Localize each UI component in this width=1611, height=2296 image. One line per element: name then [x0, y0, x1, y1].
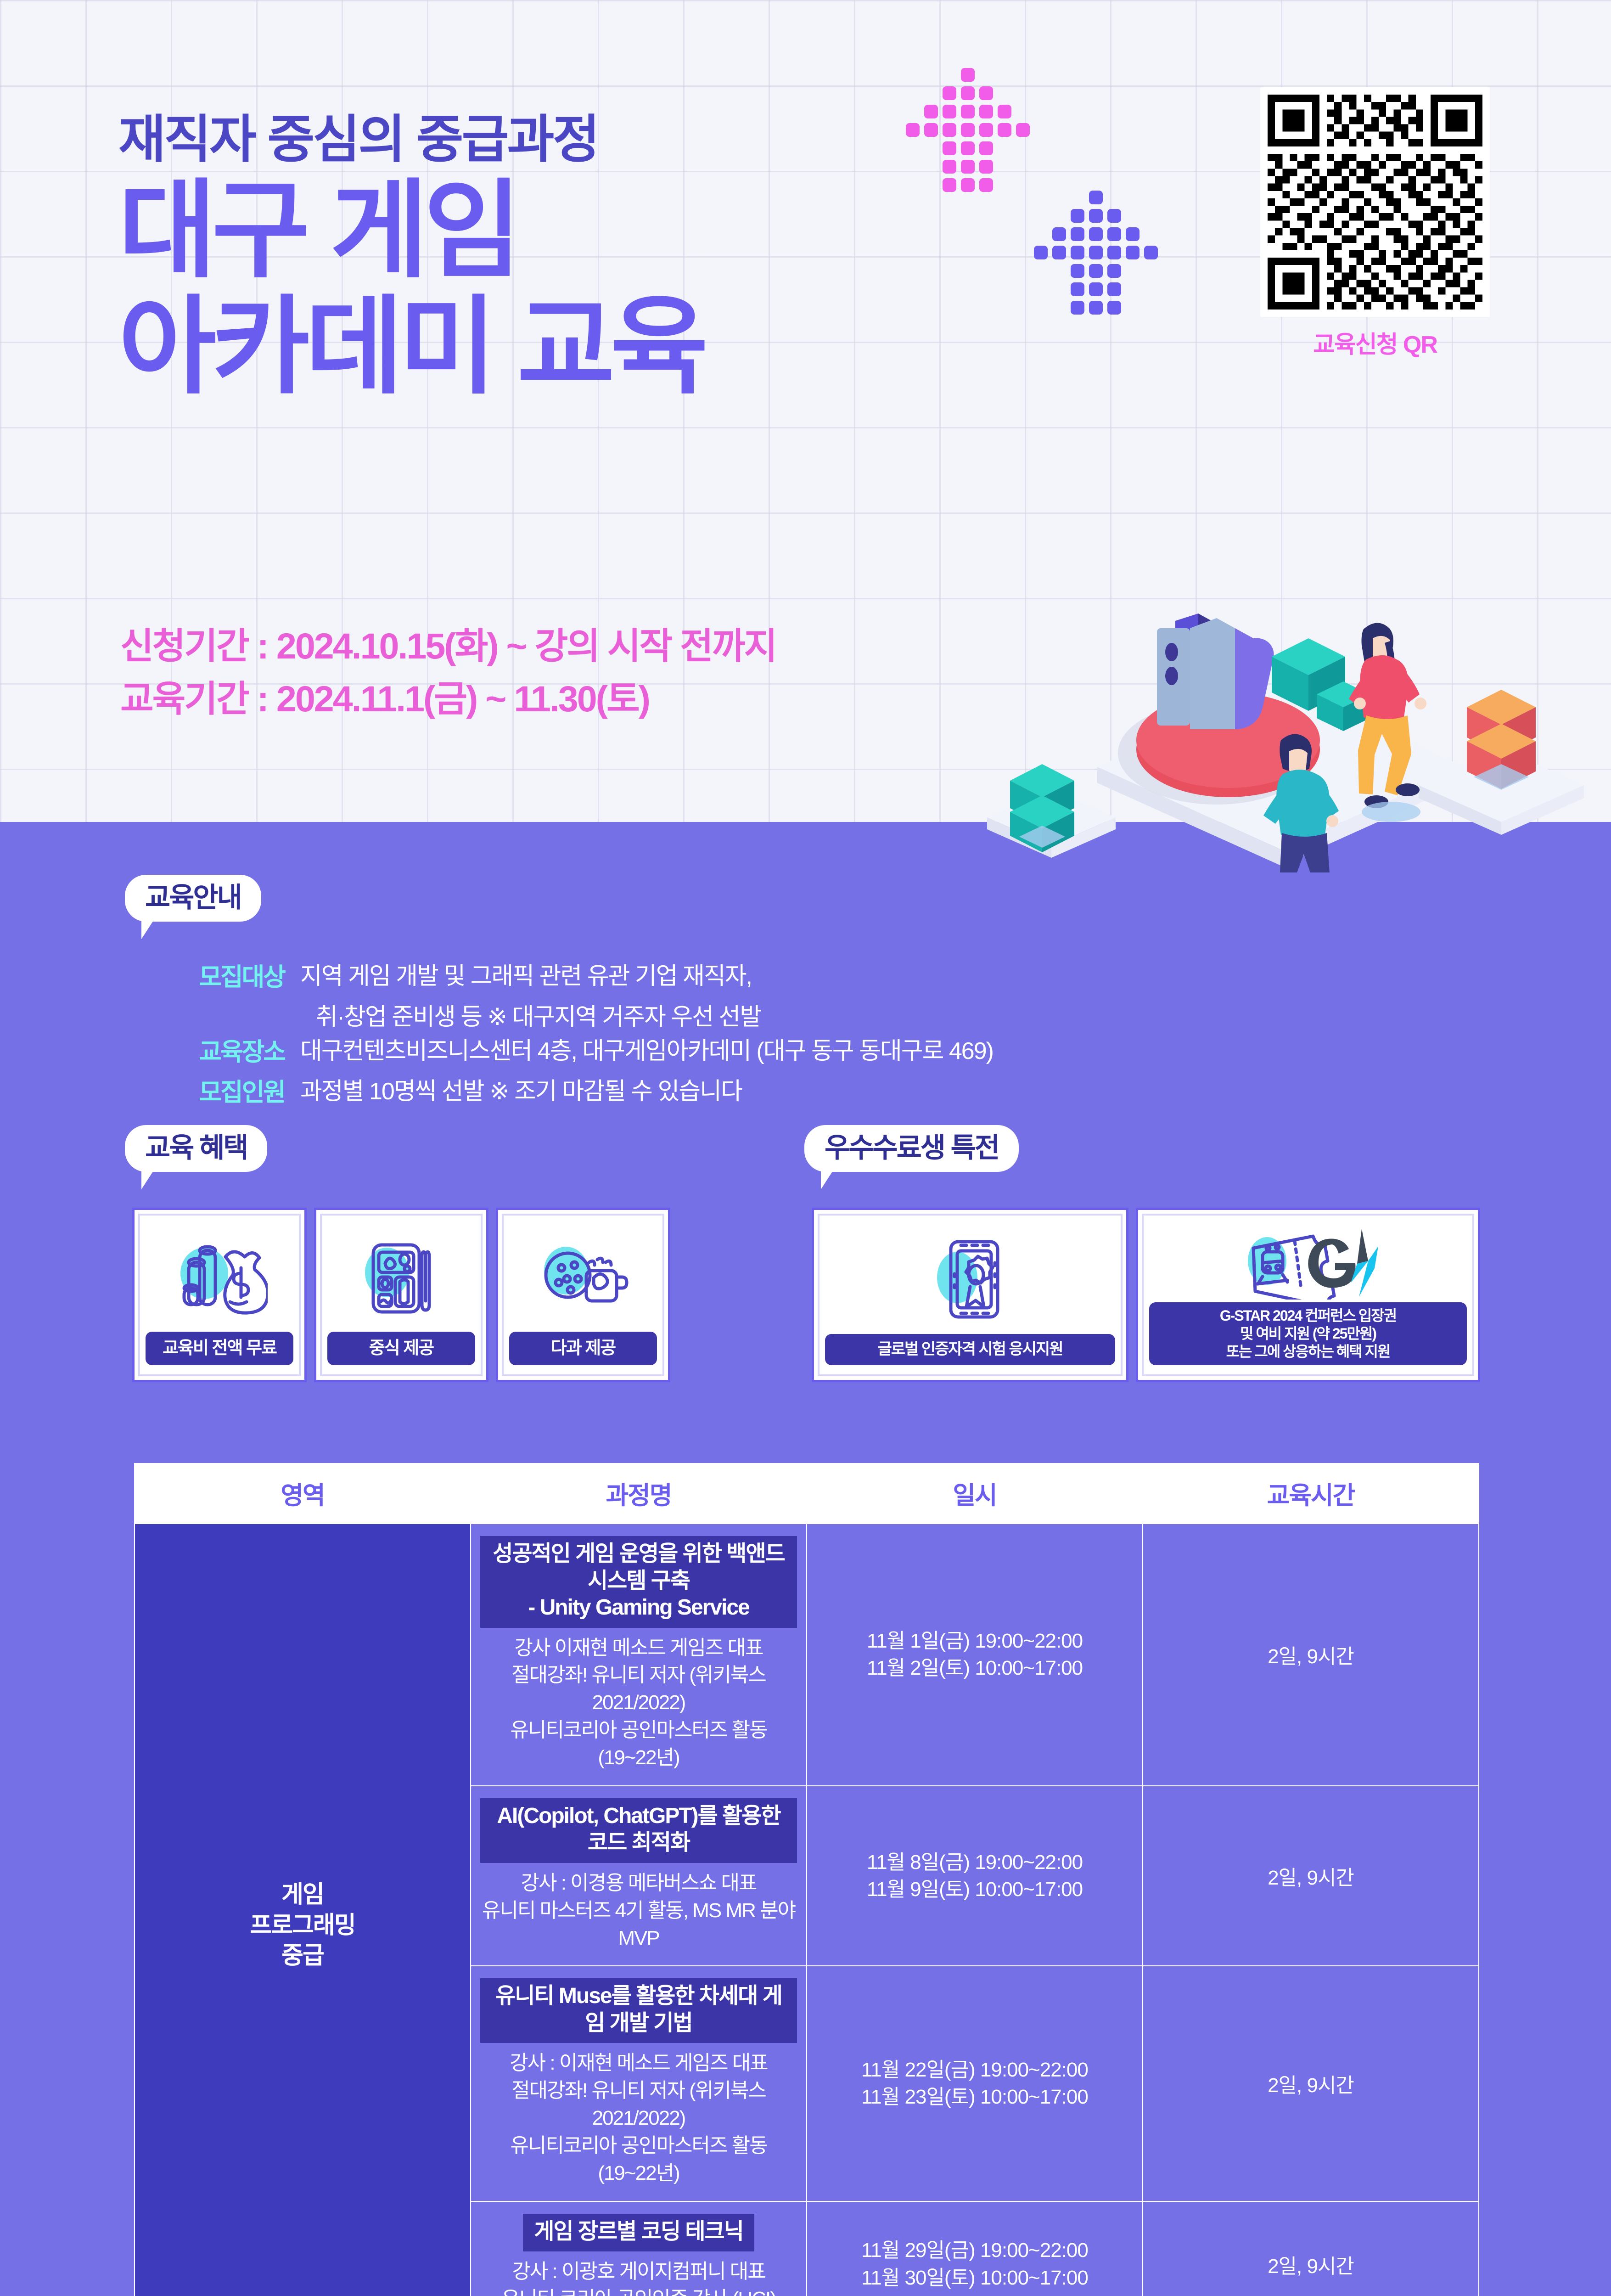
cell-hours: 2일, 9시간 [1143, 1524, 1479, 1786]
application-period: 신청기간 : 2024.10.15(화) ~ 강의 시작 전까지 [120, 620, 776, 673]
when-line: 11월 9일(토) 10:00~17:00 [807, 1876, 1142, 1903]
when-line: 11월 2일(토) 10:00~17:00 [807, 1654, 1142, 1682]
course-meta: 절대강좌! 유니티 저자 (위키북스 2021/2022) [480, 2077, 797, 2132]
poster-root: 재직자 중심의 중급과정 대구 게임 아카데미 교육 [0, 0, 1611, 2296]
schedule-table: 영역 과정명 일시 교육시간 게임 프로그래밍 중급 성공적인 게임 운영을 위… [134, 1463, 1479, 2296]
benefit-cards: 교육비 전액 무료 [132, 1208, 670, 1382]
guide-key-target: 모집대상 [170, 960, 285, 995]
course-meta: 강사 : 이재현 메소드 게임즈 대표 [480, 2049, 797, 2077]
benefit-tag: 교육 혜택 [125, 1125, 267, 1172]
cell-hours: 2일, 9시간 [1143, 2201, 1479, 2296]
special-card-gstar: G-STAR 2024 컨퍼런스 입장권 및 여비 지원 (약 25만원) 또는… [1136, 1208, 1480, 1382]
course-meta: 유니티코리아 공인마스터즈 활동 (19~22년) [480, 2132, 797, 2187]
course-title: AI(Copilot, ChatGPT)를 활용한 코드 최적화 [480, 1798, 797, 1863]
money-bag-icon [146, 1224, 293, 1332]
guide-value-target: 지역 게임 개발 및 그래픽 관련 유관 기업 재직자, [300, 960, 752, 994]
cell-area-programming: 게임 프로그래밍 중급 [135, 1524, 471, 2296]
when-line: 11월 8일(금) 19:00~22:00 [807, 1849, 1142, 1876]
guide-row-quota: 모집인원 과정별 10명씩 선발 ※ 조기 마감될 수 있습니다 [170, 1075, 993, 1110]
table-header-row: 영역 과정명 일시 교육시간 [135, 1463, 1479, 1524]
hero-section: 재직자 중심의 중급과정 대구 게임 아카데미 교육 [0, 0, 1611, 822]
course-meta: 강사 : 이광호 게이지컴퍼니 대표 [480, 2258, 797, 2285]
hero-dates: 신청기간 : 2024.10.15(화) ~ 강의 시작 전까지 교육기간 : … [120, 620, 776, 725]
plus-cross-purple-icon [1016, 191, 1176, 315]
special-tag: 우수수료생 특전 [804, 1125, 1019, 1172]
guide-key-place: 교육장소 [170, 1035, 285, 1070]
cell-when: 11월 29일(금) 19:00~22:00 11월 30일(토) 10:00~… [807, 2201, 1143, 2296]
course-meta: 강사 : 이경용 메타버스쇼 대표 [480, 1869, 797, 1897]
special-cards: 글로벌 인증자격 시험 응시지원 [812, 1208, 1480, 1382]
hero-isometric-illustration [960, 569, 1611, 872]
course-title: 유니티 Muse를 활용한 차세대 게임 개발 기법 [480, 1978, 797, 2043]
cell-hours: 2일, 9시간 [1143, 1786, 1479, 1966]
course-meta: 절대강좌! 유니티 저자 (위키북스 2021/2022) [480, 1661, 797, 1716]
when-line: 11월 22일(금) 19:00~22:00 [807, 2056, 1142, 2083]
course-meta: 유니티 마스터즈 4기 활동, MS MR 분야 MVP [480, 1897, 797, 1952]
guide-key-quota: 모집인원 [170, 1075, 285, 1110]
special-label-certification: 글로벌 인증자격 시험 응시지원 [825, 1334, 1115, 1365]
lunch-box-icon [327, 1224, 475, 1332]
when-line: 11월 23일(토) 10:00~17:00 [807, 2083, 1142, 2110]
qr-code-image[interactable] [1260, 87, 1490, 317]
ticket-gstar-icon [1149, 1224, 1467, 1302]
benefit-label-lunch: 중식 제공 [327, 1332, 475, 1365]
guide-value-quota: 과정별 10명씩 선발 ※ 조기 마감될 수 있습니다 [300, 1075, 742, 1109]
cell-course: 게임 장르별 코딩 테크닉 강사 : 이광호 게이지컴퍼니 대표 유니티 코리아… [471, 2201, 807, 2296]
course-meta: 유니티코리아 공인마스터즈 활동 (19~22년) [480, 1716, 797, 1772]
cell-course: AI(Copilot, ChatGPT)를 활용한 코드 최적화 강사 : 이경… [471, 1786, 807, 1966]
when-line: 11월 30일(토) 10:00~17:00 [807, 2264, 1142, 2291]
guide-row-target-2: 취·창업 준비생 등 ※ 대구지역 거주자 우선 선발 [316, 1001, 993, 1035]
guide-value-place: 대구컨텐츠비즈니스센터 4층, 대구게임아카데미 (대구 동구 동대구로 469… [300, 1035, 993, 1069]
cookie-coffee-icon [509, 1224, 657, 1332]
schedule-table-wrap: 영역 과정명 일시 교육시간 게임 프로그래밍 중급 성공적인 게임 운영을 위… [134, 1463, 1479, 2296]
benefit-label-free-tuition: 교육비 전액 무료 [146, 1332, 293, 1365]
certificate-icon [825, 1224, 1115, 1334]
cell-course: 유니티 Muse를 활용한 차세대 게임 개발 기법 강사 : 이재현 메소드 … [471, 1966, 807, 2201]
guide-row-target: 모집대상 지역 게임 개발 및 그래픽 관련 유관 기업 재직자, [170, 960, 993, 995]
course-title: 게임 장르별 코딩 테크닉 [523, 2214, 754, 2252]
hero-kicker: 재직자 중심의 중급과정 [118, 113, 704, 167]
table-row: 게임 프로그래밍 중급 성공적인 게임 운영을 위한 백앤드 시스템 구축 - … [135, 1524, 1479, 1786]
hero-title-line-1: 대구 게임 [118, 175, 704, 287]
cell-when: 11월 1일(금) 19:00~22:00 11월 2일(토) 10:00~17… [807, 1524, 1143, 1786]
guide-info-block: 모집대상 지역 게임 개발 및 그래픽 관련 유관 기업 재직자, 취·창업 준… [170, 960, 993, 1116]
benefit-tag-wrap: 교육 혜택 [125, 1125, 267, 1172]
course-meta: 강사 이재현 메소드 게임즈 대표 [480, 1634, 797, 1662]
benefit-card-free-tuition: 교육비 전액 무료 [132, 1208, 307, 1382]
cell-course: 성공적인 게임 운영을 위한 백앤드 시스템 구축 - Unity Gaming… [471, 1524, 807, 1786]
benefit-card-lunch: 중식 제공 [314, 1208, 488, 1382]
education-period: 교육기간 : 2024.11.1(금) ~ 11.30(토) [120, 673, 776, 726]
guide-tag: 교육안내 [125, 875, 261, 922]
hero-title-line-2: 아카데미 교육 [118, 291, 704, 403]
th-when: 일시 [807, 1463, 1143, 1524]
cell-when: 11월 8일(금) 19:00~22:00 11월 9일(토) 10:00~17… [807, 1786, 1143, 1966]
when-line: 11월 29일(금) 19:00~22:00 [807, 2237, 1142, 2264]
when-line: 11월 1일(금) 19:00~22:00 [807, 1627, 1142, 1654]
benefit-card-refreshment: 다과 제공 [496, 1208, 670, 1382]
cell-when: 11월 22일(금) 19:00~22:00 11월 23일(토) 10:00~… [807, 1966, 1143, 2201]
course-meta: 유니티 코리아 공인인증 강사 (UCI) [480, 2285, 797, 2296]
guide-row-place: 교육장소 대구컨텐츠비즈니스센터 4층, 대구게임아카데미 (대구 동구 동대구… [170, 1035, 993, 1070]
guide-tag-wrap: 교육안내 [125, 875, 261, 922]
benefit-label-refreshment: 다과 제공 [509, 1332, 657, 1365]
plus-cross-pink-icon [906, 68, 1030, 192]
cell-hours: 2일, 9시간 [1143, 1966, 1479, 2201]
th-hours: 교육시간 [1143, 1463, 1479, 1524]
th-area: 영역 [135, 1463, 471, 1524]
th-course: 과정명 [471, 1463, 807, 1524]
qr-block: 교육신청 QR [1260, 87, 1490, 360]
qr-caption: 교육신청 QR [1260, 325, 1490, 360]
special-label-gstar: G-STAR 2024 컨퍼런스 입장권 및 여비 지원 (약 25만원) 또는… [1149, 1302, 1467, 1365]
special-tag-wrap: 우수수료생 특전 [804, 1125, 1019, 1172]
special-card-certification: 글로벌 인증자격 시험 응시지원 [812, 1208, 1128, 1382]
course-title: 성공적인 게임 운영을 위한 백앤드 시스템 구축 - Unity Gaming… [480, 1536, 797, 1628]
hero-title-group: 재직자 중심의 중급과정 대구 게임 아카데미 교육 [118, 113, 704, 403]
